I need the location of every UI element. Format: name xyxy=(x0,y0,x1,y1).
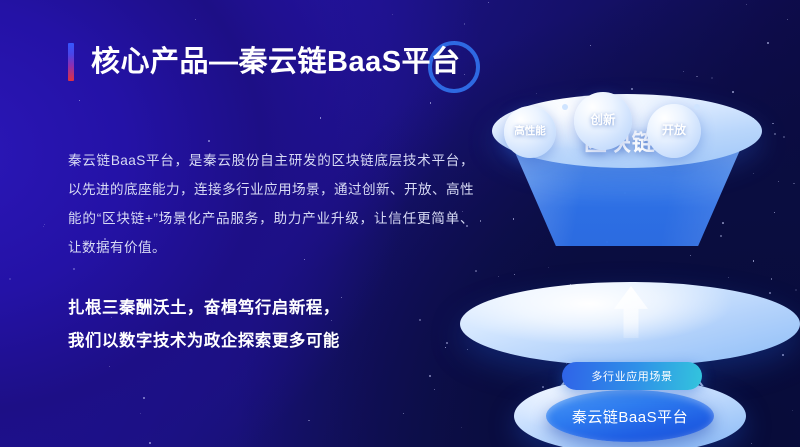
base-platform-label: 秦云链BaaS平台 xyxy=(546,390,714,442)
tagline-block: 扎根三秦酬沃土，奋楫笃行启新程， 我们以数字技术为政企探索更多可能 xyxy=(68,292,488,358)
page-title: 核心产品—秦云链BaaS平台 xyxy=(91,48,461,77)
scenario-pill: 多行业应用场景 xyxy=(562,362,702,390)
slide-canvas: 核心产品—秦云链BaaS平台 秦云链BaaS平台，是秦云股份自主研发的区块链底层… xyxy=(0,0,800,447)
pill-connector-dot-left xyxy=(562,104,568,110)
title-accent-bar xyxy=(68,43,74,81)
tagline-line-1: 扎根三秦酬沃土，奋楫笃行启新程， xyxy=(68,292,488,325)
pill-connector-dot-right xyxy=(694,104,700,110)
connector-lines xyxy=(462,86,800,386)
page-title-block: 核心产品—秦云链BaaS平台 xyxy=(68,40,461,84)
baas-platform-illustration: 区块链+ 高性能 创新 开放 多行业应用场景 秦云链BaaS平台 xyxy=(462,86,800,386)
body-paragraph: 秦云链BaaS平台，是秦云股份自主研发的区块链底层技术平台，以先进的底座能力，连… xyxy=(68,146,474,262)
tagline-line-2: 我们以数字技术为政企探索更多可能 xyxy=(68,325,488,358)
